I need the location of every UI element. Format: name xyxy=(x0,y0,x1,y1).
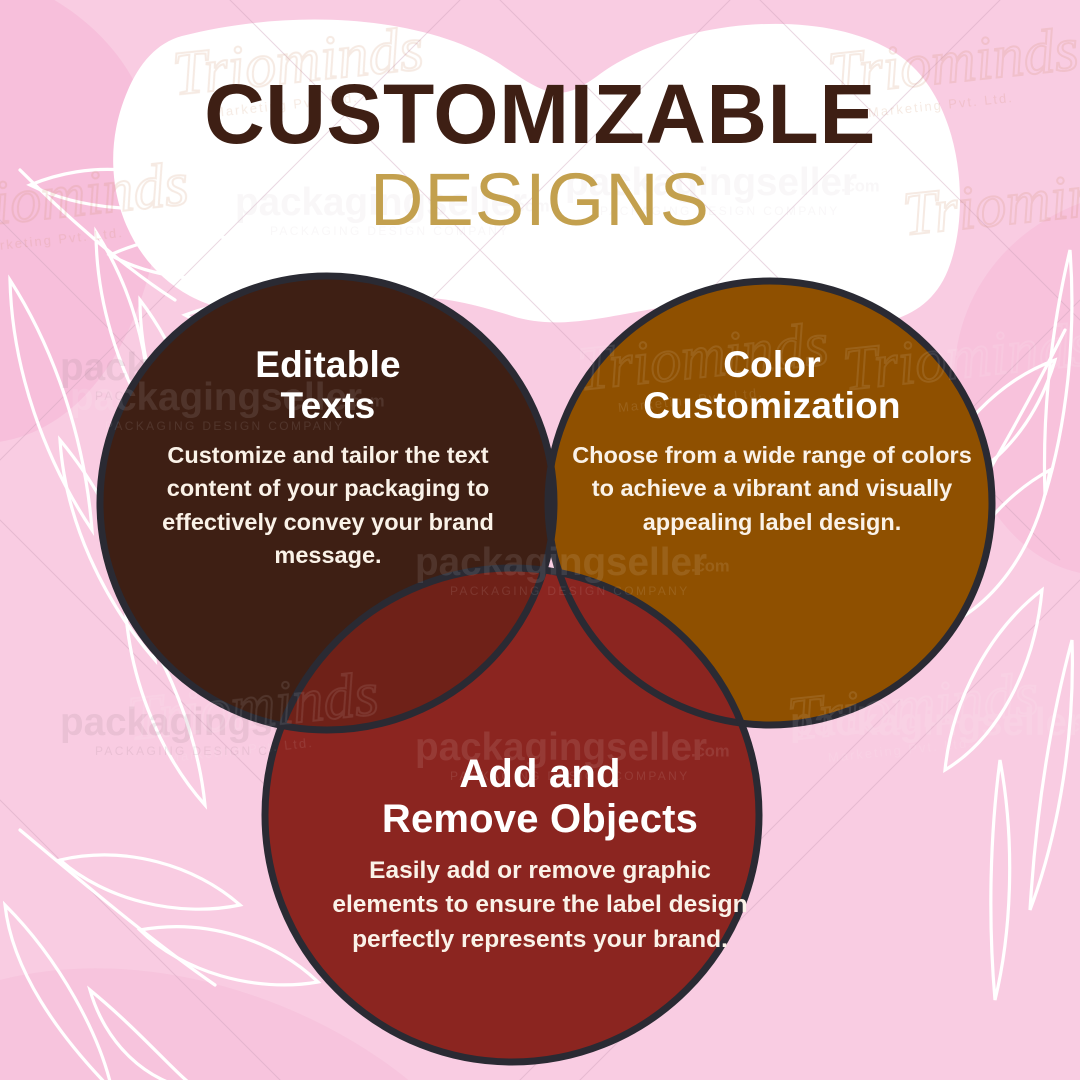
svg-text:Triominds: Triominds xyxy=(839,310,1080,404)
svg-text:packagingseller: packagingseller xyxy=(415,726,707,769)
svg-text:.com: .com xyxy=(346,391,385,410)
svg-text:PACKAGING DESIGN COMPANY: PACKAGING DESIGN COMPANY xyxy=(450,584,690,598)
svg-text:.com: .com xyxy=(691,556,730,575)
poster-canvas: Triominds Marketing Pvt. Ltd. Triominds … xyxy=(0,0,1080,1080)
svg-text:.com: .com xyxy=(691,741,730,760)
svg-text:Triominds: Triominds xyxy=(124,660,381,754)
svg-text:PACKAGING DESIGN COMPANY: PACKAGING DESIGN COMPANY xyxy=(450,769,690,783)
svg-text:packagingseller: packagingseller xyxy=(415,541,707,584)
watermark-overlay: packagingseller .com PACKAGING DESIGN CO… xyxy=(0,0,1080,1080)
svg-text:packagingseller: packagingseller xyxy=(70,376,362,419)
svg-text:Triominds: Triominds xyxy=(574,310,831,404)
svg-text:PACKAGING DESIGN COMPANY: PACKAGING DESIGN COMPANY xyxy=(105,419,345,433)
svg-text:.com: .com xyxy=(1066,716,1080,735)
